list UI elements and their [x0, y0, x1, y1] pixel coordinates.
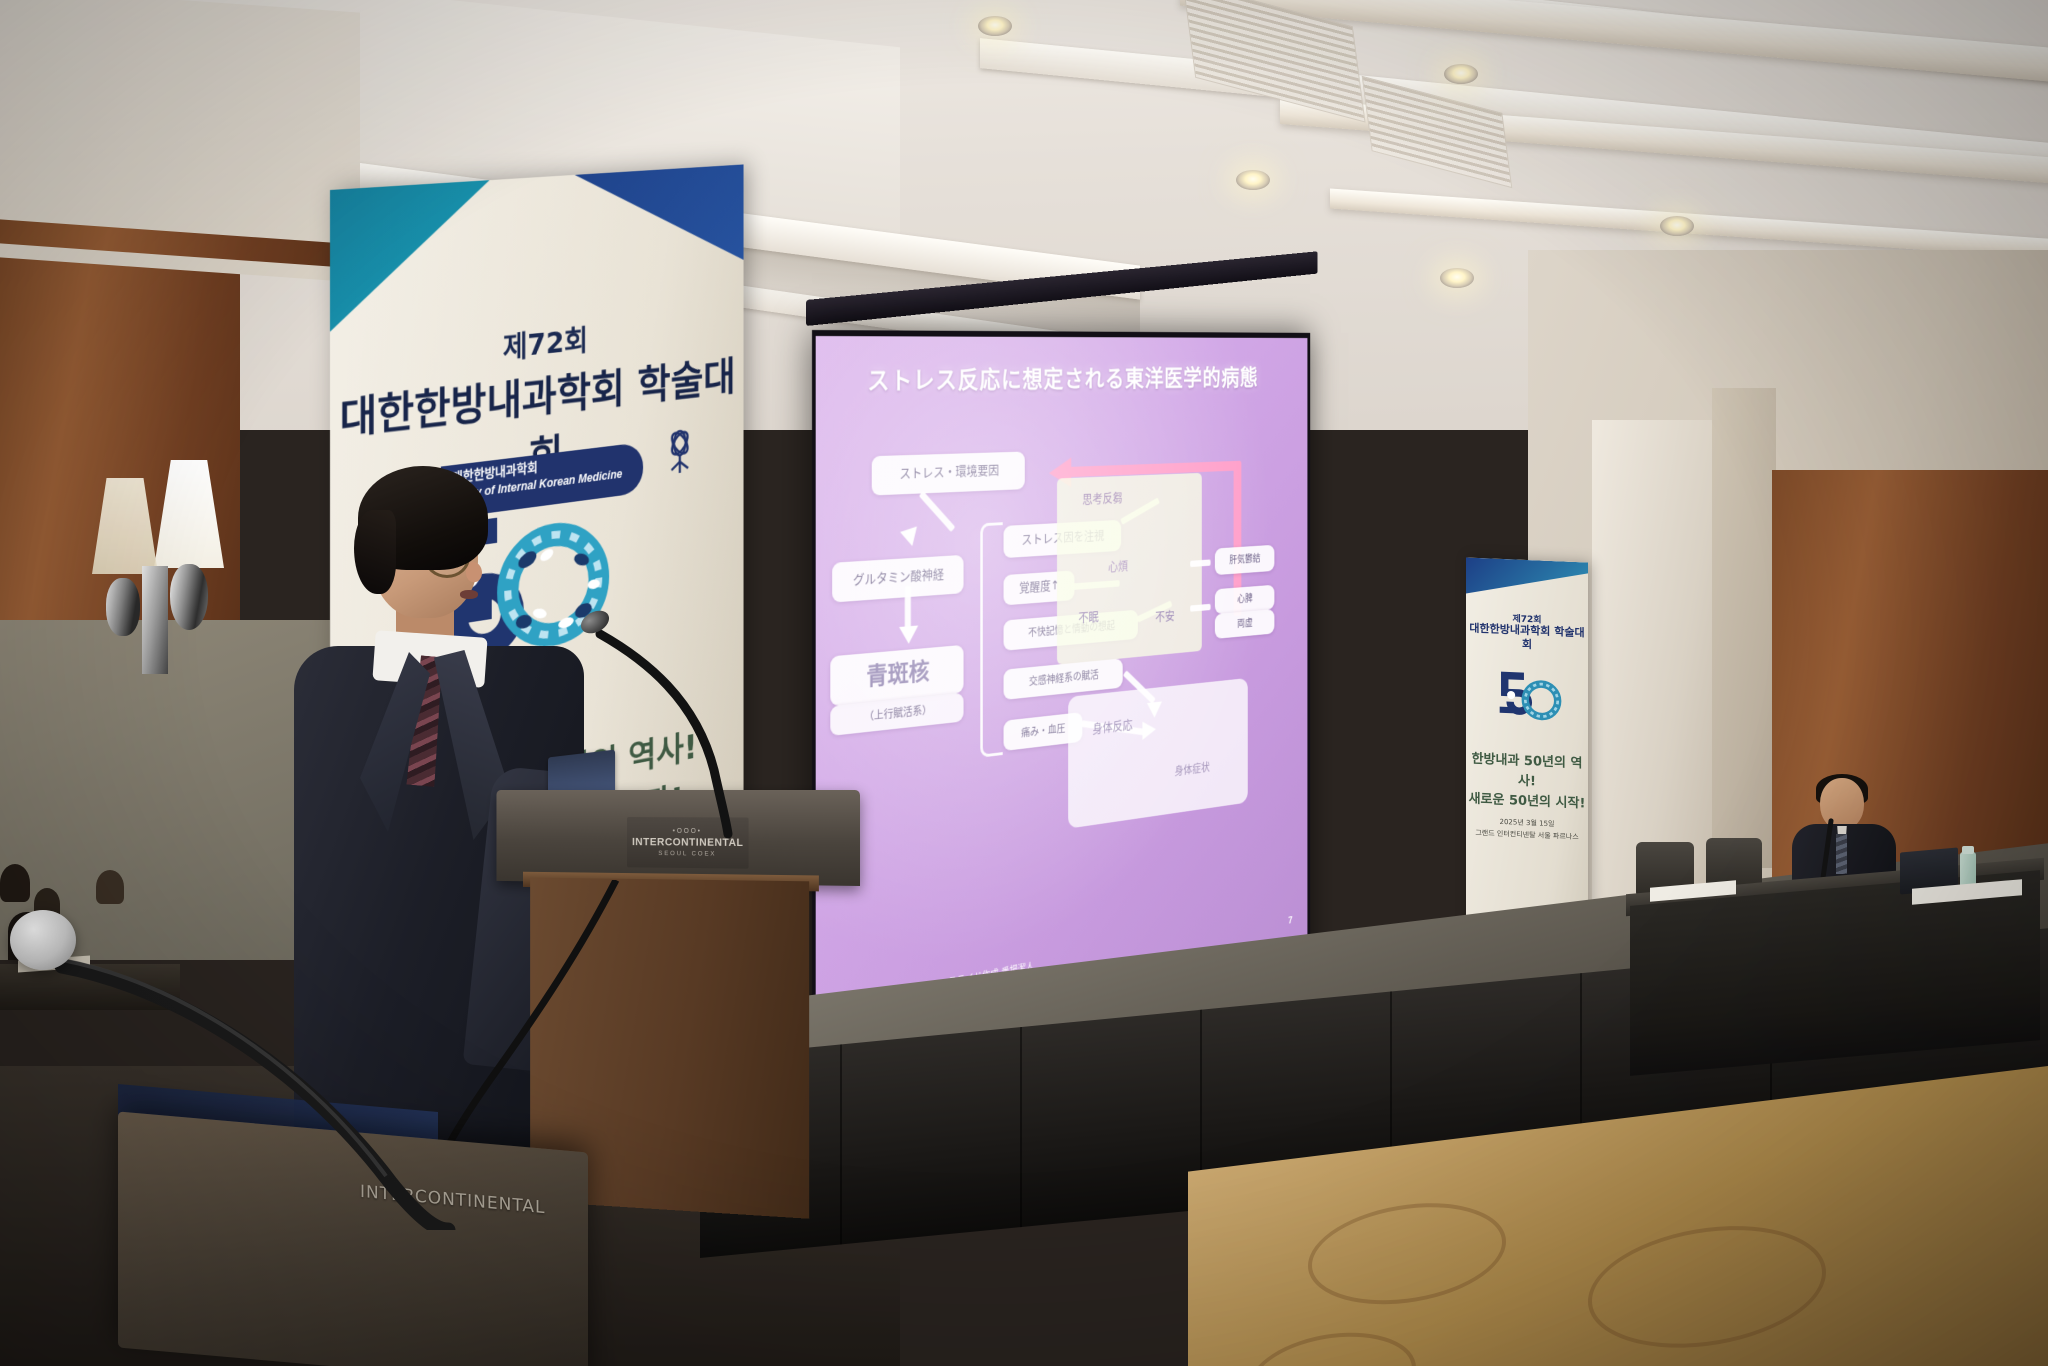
node-focus-on-stressor: ストレス因を注視 [1004, 520, 1122, 558]
wall-column [1712, 388, 1776, 868]
banner-right-venue: 2025년 3월 15일 그랜드 인터컨티넨탈 서울 파르나스 [1466, 815, 1588, 844]
node-locus-coeruleus: 青斑核 [830, 645, 963, 706]
arrow-head-body2 [1142, 720, 1156, 740]
speaker-hair-side [354, 510, 396, 594]
node-stress: ストレス・環境要因 [872, 452, 1025, 496]
anniversary-50-logo-right [1494, 665, 1562, 726]
arrow-head-glutamate [900, 526, 921, 548]
arrow-to-outcome-1 [1190, 559, 1210, 567]
arrow-head-body [1147, 701, 1162, 718]
slide-page-number: 7 [1288, 915, 1292, 926]
banner-right-top-graphic [1466, 557, 1588, 598]
node-arousal: 覚醒度↑ [1004, 570, 1075, 605]
feedback-arrow-riser [1234, 461, 1242, 616]
arrow-pain-to-body [1081, 720, 1148, 735]
banner-right-message-line2: 새로운 50년의 시작! [1469, 792, 1586, 812]
speaker-mouth [460, 590, 478, 599]
banner-right-venue-text: 그랜드 인터컨티넨탈 서울 파르나스 [1475, 829, 1578, 841]
podium-microphone [586, 620, 786, 840]
node-unpleasant-memory: 不快記憶と情動の想起 [1004, 610, 1138, 651]
node-somatic-upper [1151, 693, 1209, 723]
banner-right-date: 2025년 3월 15일 [1500, 818, 1555, 828]
foreground-microphone-head [10, 910, 76, 970]
conference-photo: ストレス反応に想定される東洋医学的病態 ストレス・環境要因 グルタミン酸神経 青… [0, 0, 2048, 1366]
node-sympathetic-activation: 交感神経系の賦活 [1004, 658, 1123, 700]
node-outcome-3: 両虚 [1215, 609, 1275, 639]
node-rumination: 思考反芻 [1065, 484, 1139, 515]
venue-nameplate-line3: SEOUL COEX [658, 850, 716, 857]
arrow-head-locus [899, 625, 918, 644]
ceiling-downlight [978, 16, 1012, 36]
flower-emblem [653, 421, 706, 487]
ceiling-downlight [1236, 170, 1270, 190]
moderator-head [1820, 778, 1864, 830]
node-somatic-label: 身体症状 [1151, 752, 1232, 790]
node-shinpan: 心煩 [1095, 553, 1141, 582]
node-glutamate: グルタミン酸神経 [832, 555, 963, 603]
moderator-tie [1836, 834, 1847, 874]
slide-title: ストレス反応に想定される東洋医学的病態 [838, 360, 1282, 397]
head-table-drape [1630, 870, 2040, 1076]
arrow-to-outcome-2 [1190, 604, 1210, 612]
feedback-arrow-head [1049, 458, 1071, 489]
banner-teal-corner [330, 164, 533, 340]
feedback-arrow [1068, 461, 1241, 477]
panel-mental-symptoms [1057, 473, 1202, 665]
node-locus-coeruleus-sub: （上行賦活系） [830, 693, 963, 736]
branch-bracket [980, 522, 1002, 757]
foreground-microphone-arm [18, 930, 538, 1230]
ceiling-downlight [1660, 216, 1694, 236]
arrow-sympathetic-to-body [1123, 670, 1156, 704]
ceiling-downlight [1440, 268, 1474, 288]
banner-right-message-line1: 한방내과 50년의 역사! [1472, 752, 1583, 790]
water-bottle-cap [1962, 846, 1974, 854]
panel-somatic [1068, 678, 1248, 829]
node-pain-bloodpressure: 痛み・血圧 [1004, 712, 1083, 751]
ceiling-downlight [1444, 64, 1478, 84]
arrow-focus-to-rumination [1120, 497, 1160, 524]
banner-right-message: 한방내과 50년의 역사! 새로운 50년의 시작! [1466, 749, 1588, 815]
node-insomnia: 不眠 [1065, 603, 1112, 635]
slide-surface: ストレス反応に想定される東洋医学的病態 ストレス・環境要因 グルタミン酸神経 青… [816, 336, 1308, 1047]
node-outcome-1: 肝気鬱結 [1215, 545, 1275, 575]
speaker-nose [466, 562, 482, 582]
arrow-memory-to-panel [1136, 601, 1172, 623]
node-outcome-2: 心脾 [1215, 585, 1275, 614]
arrow-stress-to-glutamate [919, 491, 955, 532]
banner-right-title: 대한한방내과학회 학술대회 [1466, 621, 1588, 654]
node-body-reaction: 身体反応 [1076, 710, 1148, 746]
wall-sconce [98, 460, 278, 690]
node-anxiety: 不安 [1142, 602, 1187, 633]
arrow-glutamate-to-locus [905, 586, 911, 631]
arrow-arousal-to-panel [1071, 580, 1119, 590]
